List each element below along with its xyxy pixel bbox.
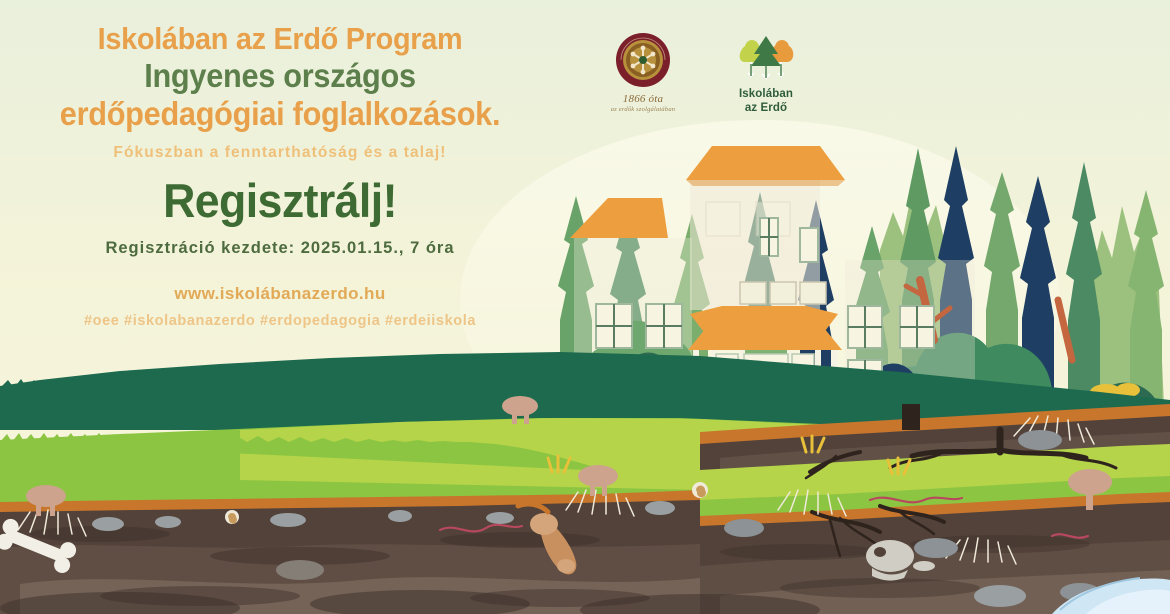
website-url[interactable]: www.iskolábanazerdo.hu [0,284,560,304]
roof-large [686,146,845,180]
window-band [740,282,826,304]
roof-large-side [686,180,845,186]
headline-line-2: Ingyenes országos [20,58,541,95]
oee-tagline-year: 1866 óta [604,94,682,105]
iae-title-line-1: Iskolában [724,87,808,101]
subtitle: Fókuszban a fenntarthatóság és a talaj! [0,144,560,162]
text-content-block: Iskolában az Erdő Program Ingyenes orszá… [0,22,560,329]
hashtags: #oee #iskolabanazerdo #erdopedagogia #er… [0,313,560,329]
headline-line-3: erdőpedagógiai foglalkozások. [20,96,541,133]
tree-pencil-icon [731,32,801,82]
iskolaban-az-erdo-logo: Iskolában az Erdő [724,32,808,116]
oee-seal-icon [613,32,673,88]
soil-post [902,404,920,430]
iae-title-line-2: az Erdő [724,101,808,115]
registration-date: Regisztráció kezdete: 2025.01.15., 7 óra [0,239,560,258]
poster-canvas: Iskolában az Erdő Program Ingyenes orszá… [0,0,1170,614]
cta-headline: Regisztrálj! [14,177,546,224]
snail [225,510,239,524]
headline-line-1: Iskolában az Erdő Program [20,22,541,57]
window [800,228,818,262]
snail [692,482,708,498]
logo-row: 1866 óta az erdők szolgálatában [604,32,834,114]
oee-tagline-text: az erdők szolgálatában [604,107,682,114]
oee-logo: 1866 óta az erdők szolgálatában [604,32,682,114]
